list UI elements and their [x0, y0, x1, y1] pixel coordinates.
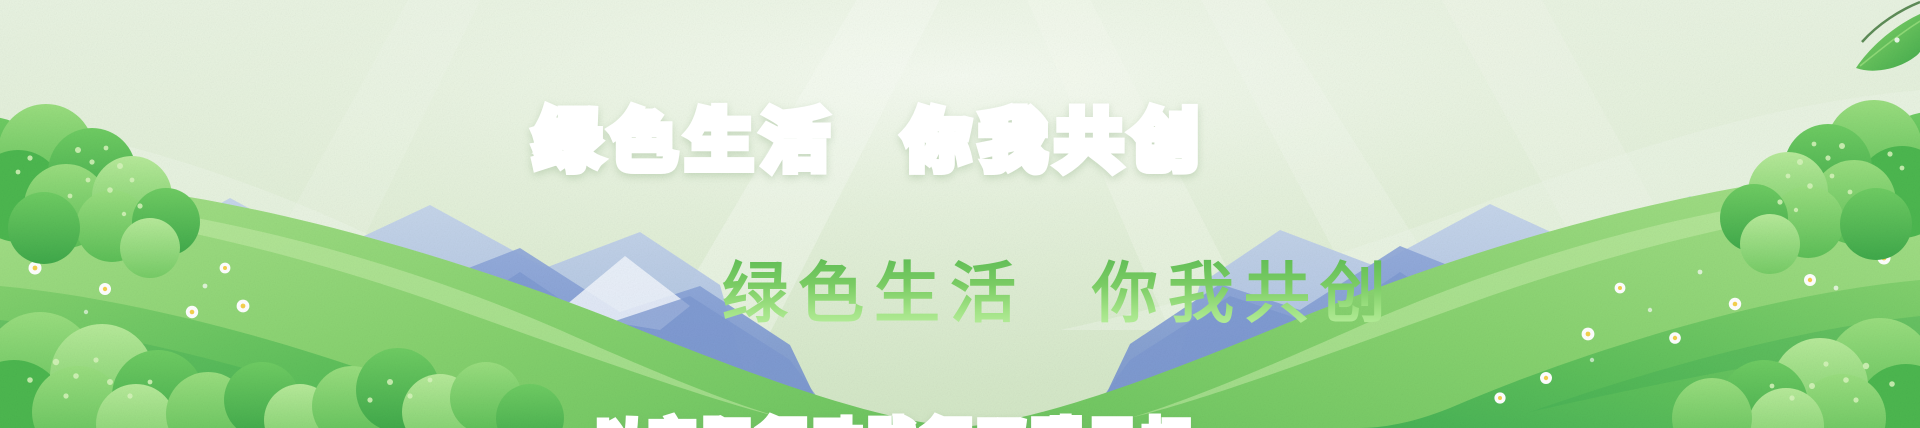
daisy-flower: [1540, 372, 1552, 384]
daisy-flower: [237, 300, 250, 313]
daisy-flower: [1582, 328, 1595, 341]
scene-illustration: [0, 0, 1920, 428]
grass-speck: [84, 310, 88, 314]
grass-speck: [1698, 270, 1703, 275]
grass-speck: [203, 284, 208, 289]
daisy-flower: [220, 263, 231, 274]
daisy-flower: [1729, 298, 1741, 310]
daisy-flower: [1494, 392, 1505, 403]
daisy-flower: [99, 283, 111, 295]
grass-speck: [1590, 358, 1594, 362]
grass-speck: [1648, 308, 1652, 312]
daisy-flower: [1804, 274, 1816, 286]
daisy-flower: [1615, 283, 1626, 294]
leaf-dew-drop: [1894, 37, 1899, 42]
daisy-flower: [186, 306, 198, 318]
daisy-flower: [1669, 332, 1681, 344]
eco-campaign-banner: 绿色生活 你我共创 绿色生活 你我共创 以实际行动践行双碳目标 以实际行动践行双…: [0, 0, 1920, 428]
grass-speck: [1834, 286, 1839, 291]
